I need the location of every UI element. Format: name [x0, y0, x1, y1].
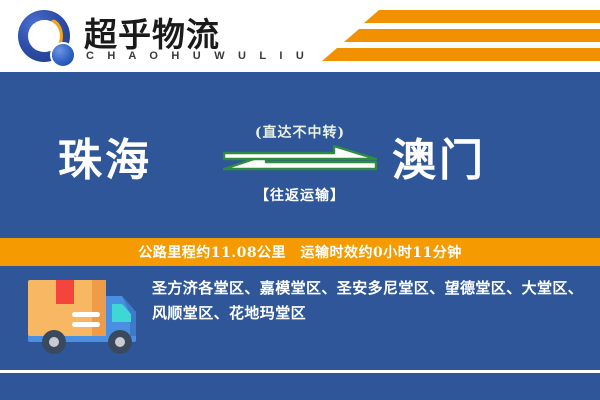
- destination-city: 澳门: [392, 124, 486, 188]
- brand-block: 超乎物流 C H A O H U W U L I U: [18, 6, 278, 68]
- distance-duration-bar: 公路里程约11.08公里 运输时效约0小时11分钟: [0, 238, 600, 266]
- distance-duration-text: 公路里程约11.08公里 运输时效约0小时11分钟: [138, 242, 462, 262]
- logo-small-dot: [52, 44, 74, 66]
- footer-strip: [0, 373, 600, 400]
- delivery-truck-icon: [26, 274, 142, 360]
- decorative-stripes: [290, 6, 600, 68]
- stripe-3: [322, 48, 600, 61]
- route-area: 珠海 (直达不中转) 【往返运输】 澳门: [0, 72, 600, 238]
- coverage-districts-area: 圣方济各堂区、嘉模堂区、圣安多尼堂区、望德堂区、大堂区、风顺堂区、花地玛堂区: [0, 266, 600, 370]
- double-headed-arrow-icon: [222, 145, 378, 183]
- chaohu-circle-logo-icon: [18, 10, 80, 68]
- stripe-1: [364, 10, 600, 23]
- coverage-districts-text: 圣方济各堂区、嘉模堂区、圣安多尼堂区、望德堂区、大堂区、风顺堂区、花地玛堂区: [152, 276, 584, 326]
- brand-name-cn: 超乎物流: [84, 8, 220, 56]
- logistics-route-card: 超乎物流 C H A O H U W U L I U 珠海 (直达不中转) 【往…: [0, 0, 600, 400]
- route-note-roundtrip: 【往返运输】: [0, 185, 600, 205]
- stripe-2: [344, 29, 600, 42]
- route-note-direct: (直达不中转): [0, 122, 600, 142]
- main-blue-panel: 珠海 (直达不中转) 【往返运输】 澳门 公路里程约11.08公里 运输时效约0…: [0, 72, 600, 400]
- header: 超乎物流 C H A O H U W U L I U: [0, 0, 600, 72]
- brand-name-en: C H A O H U W U L I U: [86, 50, 309, 62]
